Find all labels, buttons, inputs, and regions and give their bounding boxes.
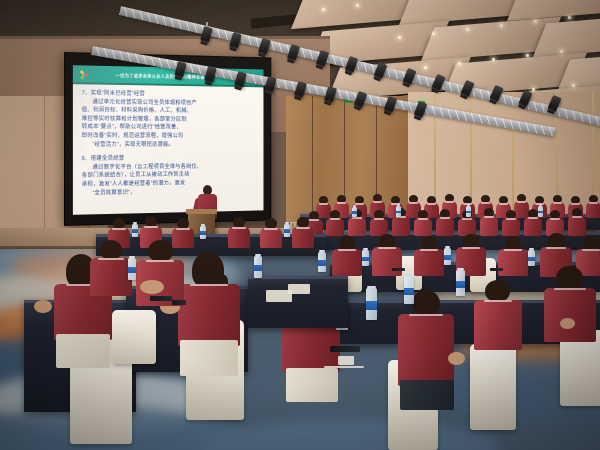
audience-member xyxy=(480,208,498,236)
water-bottle xyxy=(352,207,357,217)
napkin xyxy=(288,284,310,294)
hand xyxy=(560,318,575,329)
audience-member xyxy=(178,252,240,346)
audience-member xyxy=(568,208,586,236)
audience-member xyxy=(332,236,362,276)
slide-line: 转成本“要点”，帮助公司进行“经营改善、 xyxy=(82,123,258,132)
smartphone xyxy=(330,346,360,352)
remote-clicker xyxy=(172,300,186,305)
water-bottle xyxy=(200,226,206,239)
audience-member xyxy=(398,290,454,386)
hand xyxy=(34,300,52,313)
water-bottle xyxy=(396,206,401,217)
water-bottle xyxy=(254,256,262,278)
water-bottle xyxy=(456,270,465,296)
water-bottle xyxy=(466,206,471,217)
audience-member xyxy=(586,195,600,218)
water-bottle xyxy=(318,252,326,272)
audience-member xyxy=(370,210,388,236)
banquet-chair xyxy=(112,310,156,364)
trousers xyxy=(400,380,454,410)
hands-clasped xyxy=(140,280,164,294)
water-bottle xyxy=(444,248,451,265)
audience-member xyxy=(474,280,522,350)
audience-member xyxy=(502,210,520,236)
audience-member xyxy=(414,210,432,236)
conference-hall-photo: 一切为了追求全体从业人员的物质和精神幸福 7、实现“阿米巴经营”经营 通过单元化… xyxy=(0,0,600,450)
hand xyxy=(448,352,465,365)
slide-line: 即时改善”实时，规范运营流程，增强公司 xyxy=(82,132,258,141)
smartphone xyxy=(490,268,503,271)
smartphone xyxy=(150,296,172,301)
audience-member xyxy=(348,209,366,236)
water-bottle xyxy=(128,258,136,280)
audience-member xyxy=(544,266,596,342)
audience-member xyxy=(392,208,410,236)
trousers xyxy=(286,368,338,402)
water-bottle xyxy=(528,250,535,266)
audience-member xyxy=(292,217,314,248)
water-bottle xyxy=(284,224,290,237)
water-bottle xyxy=(362,250,369,266)
water-bottle xyxy=(538,206,543,217)
trousers xyxy=(180,340,238,376)
audience-member xyxy=(90,240,132,296)
audience-member xyxy=(326,210,344,236)
water-bottle xyxy=(132,224,138,237)
smartphone xyxy=(392,268,405,271)
audience-member xyxy=(414,236,444,276)
charger-block xyxy=(338,356,354,365)
trousers xyxy=(56,334,110,368)
audience-member xyxy=(260,218,282,248)
water-bottle xyxy=(404,276,414,304)
audience-member xyxy=(436,209,454,236)
banquet-chair xyxy=(470,344,516,430)
audience-member xyxy=(228,217,250,248)
pinwheel-logo xyxy=(77,67,92,82)
water-bottle xyxy=(366,288,377,320)
slide-body: 7、实现“阿米巴经营”经营 通过单元化经营实现公司全员体现和项目产 值、利润目标… xyxy=(82,89,258,198)
cable xyxy=(324,366,364,368)
